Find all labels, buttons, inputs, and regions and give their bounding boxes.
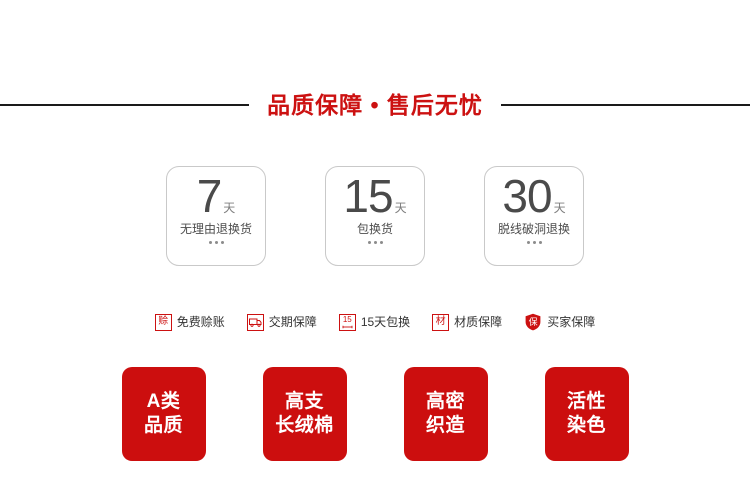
guarantee-number-line: 7 天 [197,175,236,219]
header-rule-right [501,104,750,106]
guarantee-description: 脱线破洞退换 [498,223,570,236]
page-title: 品质保障 • 售后无忧 [249,94,501,117]
feature-label: 材质保障 [454,316,502,328]
shield-icon: 保 [524,313,542,331]
quality-tile[interactable]: A类 品质 [122,367,206,461]
quality-tile[interactable]: 高支 长绒棉 [263,367,347,461]
guarantee-dots-icon [368,241,383,244]
guarantee-dots-icon [209,241,224,244]
feature-list: 赊 免费赊账 交期保障 15 15天包换 [0,310,750,334]
quality-tile[interactable]: 活性 染色 [545,367,629,461]
header-rule-left [0,104,249,106]
guarantee-number: 15 [343,175,392,219]
section-header: 品质保障 • 售后无忧 [0,90,750,120]
guarantee-list: 7 天 无理由退换货 15 天 包换货 30 天 脱线破洞退换 [0,166,750,268]
tile-line-2: 染色 [567,414,606,438]
tile-line-1: 活性 [567,390,606,414]
guarantee-unit: 天 [395,202,407,214]
guarantee-card[interactable]: 7 天 无理由退换货 [166,166,266,266]
feature-label: 交期保障 [269,316,317,328]
feature-item-free-credit[interactable]: 赊 免费赊账 [155,314,225,331]
guarantee-dots-icon [527,241,542,244]
truck-box-icon [247,314,264,331]
tile-line-2: 织造 [426,414,465,438]
feature-item-delivery[interactable]: 交期保障 [247,314,317,331]
guarantee-number: 7 [197,175,222,219]
feature-label: 免费赊账 [177,316,225,328]
feature-label: 买家保障 [547,316,595,328]
guarantee-card[interactable]: 30 天 脱线破洞退换 [484,166,584,266]
guarantee-description: 无理由退换货 [180,223,252,236]
guarantee-number: 30 [502,175,551,219]
feature-label: 15天包换 [361,316,410,328]
fifteen-day-box-icon: 15 [339,314,356,331]
guarantee-description: 包换货 [357,223,393,236]
promo-banner: 品质保障 • 售后无忧 7 天 无理由退换货 15 天 包换货 30 天 [0,0,750,503]
tile-line-1: 高密 [426,390,465,414]
guarantee-card[interactable]: 15 天 包换货 [325,166,425,266]
fifteen-day-number: 15 [343,316,352,324]
guarantee-number-line: 15 天 [343,175,406,219]
material-box-icon: 材 [432,314,449,331]
feature-item-material[interactable]: 材 材质保障 [432,314,502,331]
tile-line-1: A类 [147,390,181,414]
tile-line-1: 高支 [285,390,324,414]
tile-line-2: 长绒棉 [275,414,334,438]
guarantee-unit: 天 [223,202,235,214]
guarantee-number-line: 30 天 [502,175,565,219]
feature-item-fifteen-day[interactable]: 15 15天包换 [339,314,410,331]
shield-glyph: 保 [529,318,538,327]
tile-line-2: 品质 [144,414,183,438]
credit-box-icon: 赊 [155,314,172,331]
quality-tile-list: A类 品质 高支 长绒棉 高密 织造 活性 染色 [0,367,750,461]
guarantee-unit: 天 [554,202,566,214]
feature-item-buyer-protection[interactable]: 保 买家保障 [524,313,595,331]
quality-tile[interactable]: 高密 织造 [404,367,488,461]
